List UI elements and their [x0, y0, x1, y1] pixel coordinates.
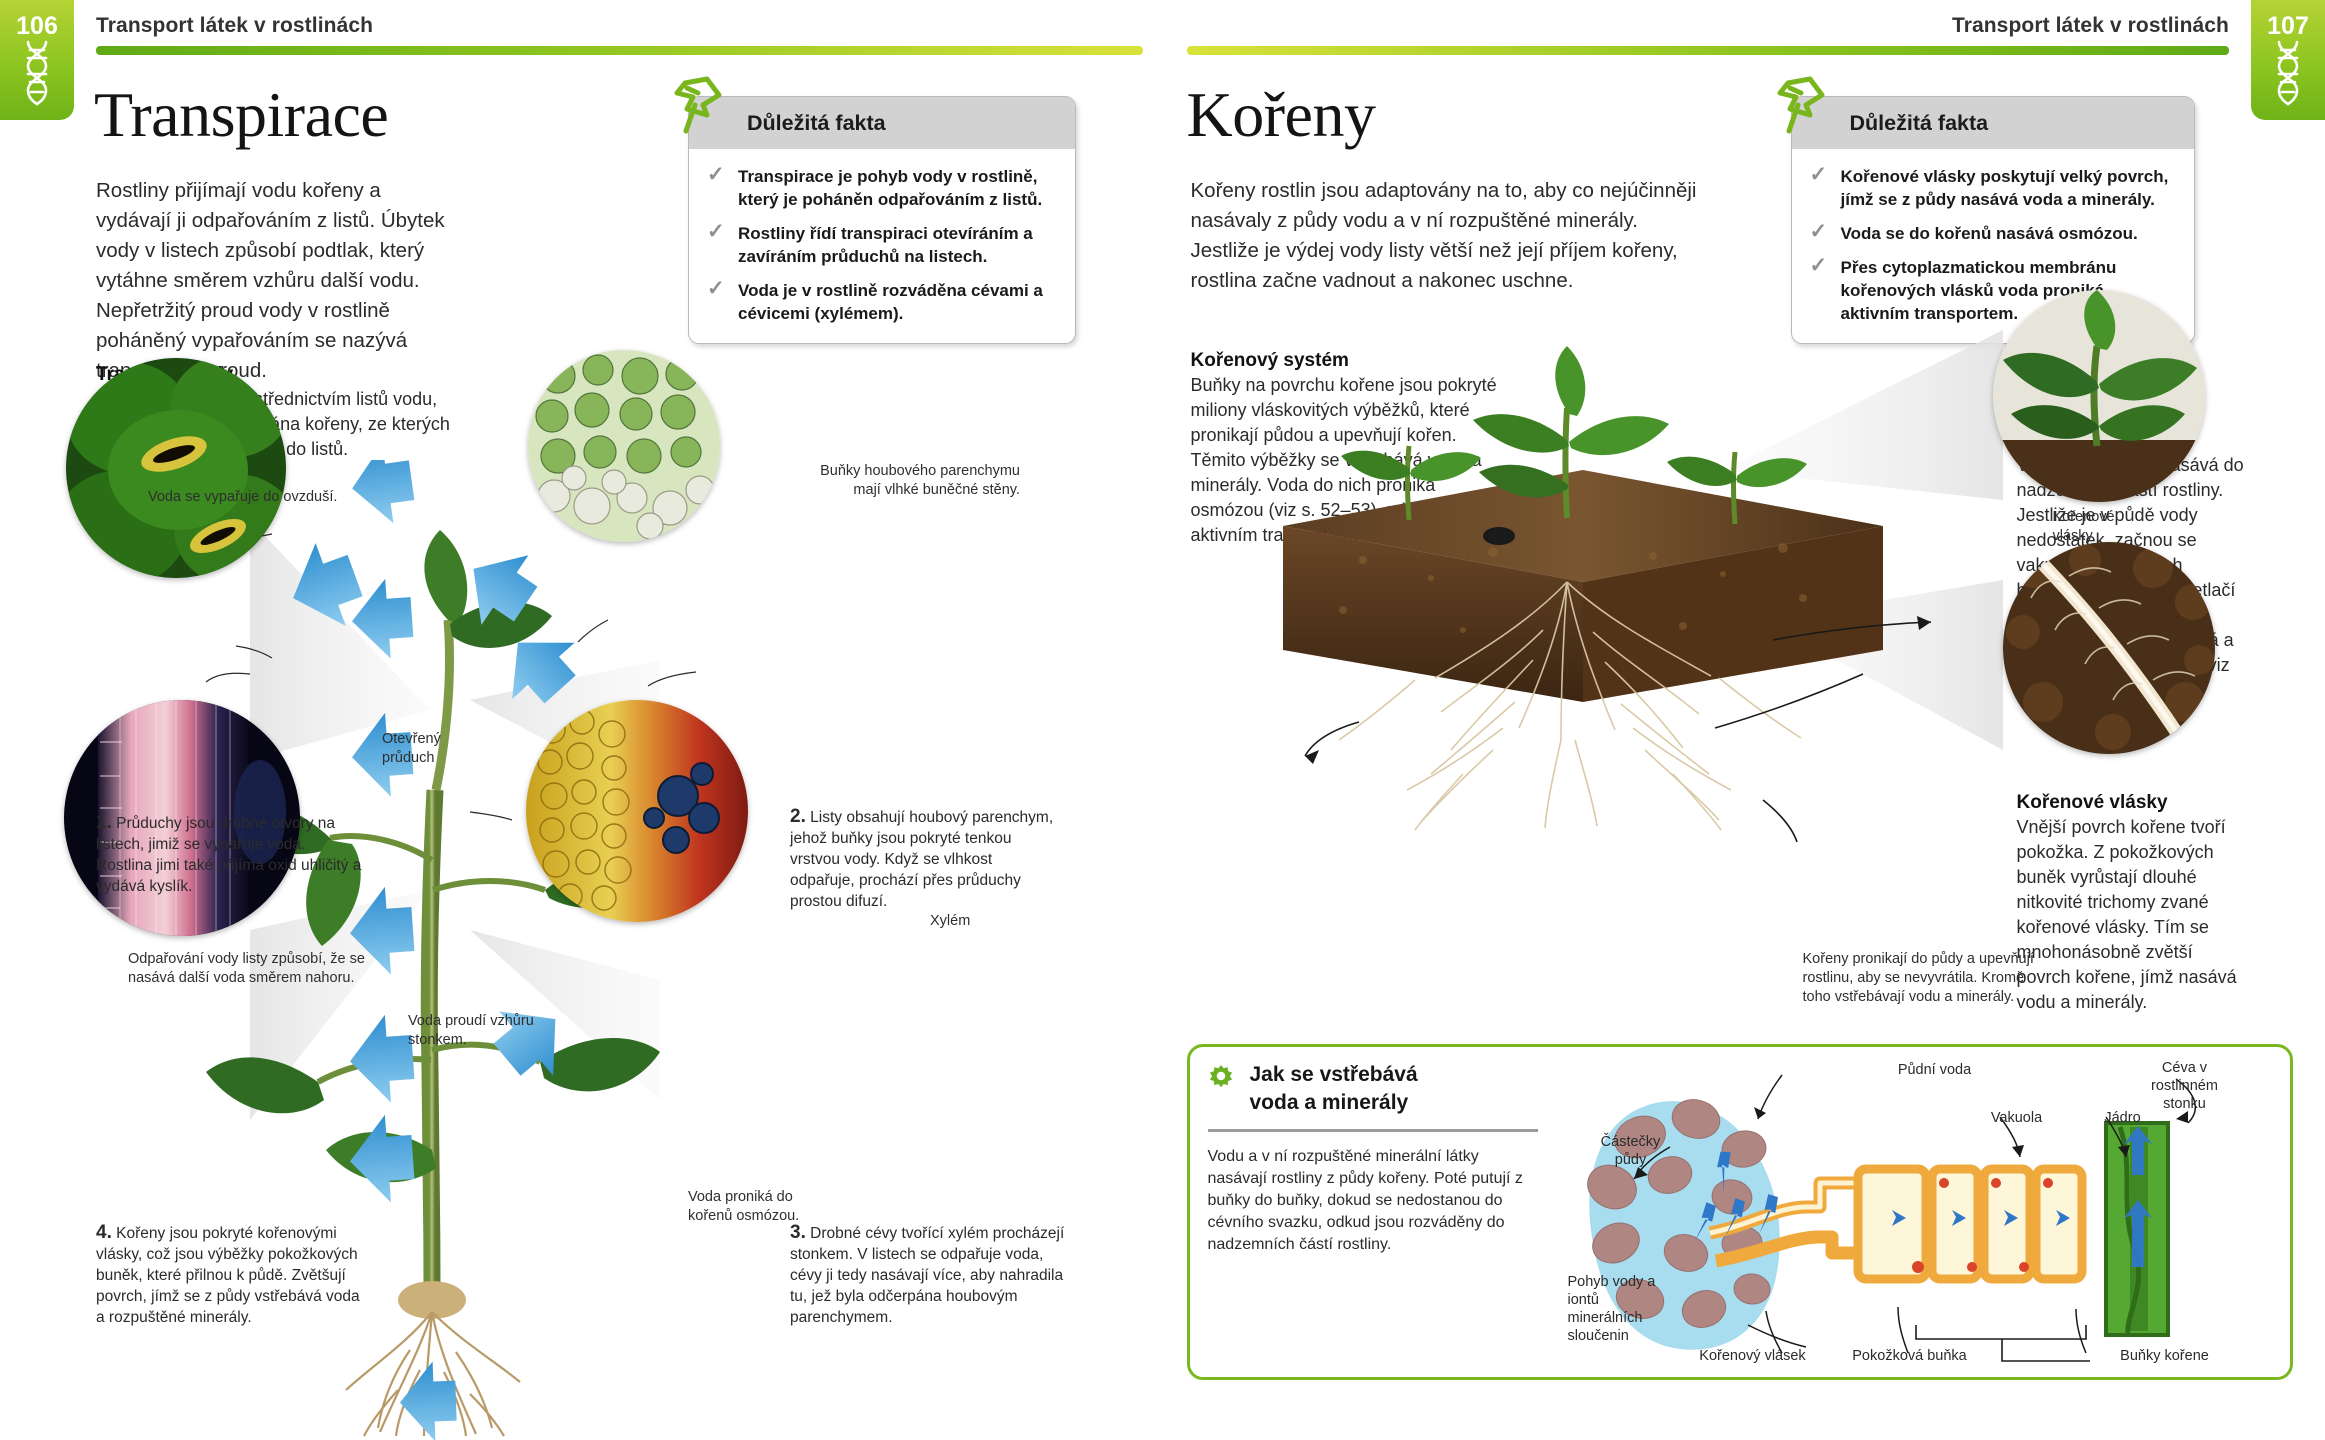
- check-icon: ✓: [1810, 165, 1830, 211]
- list-item: ✓Voda se do kořenů nasává osmózou.: [1810, 222, 2174, 245]
- panel-title: Jak se vstřebává voda a minerály: [1208, 1061, 1538, 1117]
- check-icon: ✓: [1810, 256, 1830, 325]
- dna-icon: [2271, 38, 2305, 108]
- label-epidermal-cell: Pokožková buňka: [1848, 1347, 1972, 1365]
- list-item: ✓Rostliny řídí transpiraci otevíráním a …: [707, 222, 1055, 268]
- page-number-right: 107: [2251, 12, 2325, 41]
- label-water-ion-movement: Pohyb vody a iontů minerálních sloučenin: [1568, 1273, 1678, 1345]
- caption-text: Drobné cévy tvořící xylém procházejí sto…: [790, 1225, 1064, 1326]
- page-right: 107 Transport látek v rostlinách Kořeny …: [1163, 0, 2325, 1440]
- check-icon: ✓: [707, 279, 727, 325]
- page-number-left: 106: [0, 12, 74, 41]
- page-left: 106 Transport látek v rostlinách Transpi…: [0, 0, 1163, 1440]
- numbered-caption-3: 3. Drobné cévy tvořící xylém procházejí …: [790, 1222, 1070, 1328]
- panel-body: Vodu a v ní rozpuštěné minerální látky n…: [1208, 1146, 1538, 1256]
- facts-box-left: Důležitá fakta ✓Transpirace je pohyb vod…: [688, 96, 1076, 344]
- label-soil-water: Půdní voda: [1880, 1061, 1990, 1079]
- caption-text: Kořeny jsou pokryté kořenovými vlásky, c…: [96, 1225, 360, 1326]
- label-spongy: Buňky houbového parenchymu mají vlhké bu…: [790, 462, 1020, 500]
- running-head-right: Transport látek v rostlinách: [1952, 14, 2229, 48]
- micrograph-spongy-parenchyma: [528, 350, 720, 542]
- panel-divider: [1208, 1129, 1538, 1132]
- label-evap-up: Odpařování vody listy způsobí, že se nas…: [128, 950, 390, 988]
- header-rule-right: [1187, 46, 2230, 55]
- running-head-left: Transport látek v rostlinách: [96, 14, 373, 48]
- facts-item-text: Kořenové vlásky poskytují velký povrch, …: [1841, 165, 2174, 211]
- intro-paragraph-left: Rostliny přijímají vodu kořeny a vydávaj…: [96, 176, 446, 386]
- caption-number: 3.: [790, 1222, 806, 1243]
- pin-icon: [1770, 75, 1828, 141]
- list-item: ✓Kořenové vlásky poskytují velký povrch,…: [1810, 165, 2174, 211]
- label-soil-particles: Částečky půdy: [1588, 1133, 1674, 1169]
- label-root-cells: Buňky kořene: [2110, 1347, 2220, 1365]
- panel-title-line1: Jak se vstřebává: [1250, 1063, 1418, 1086]
- micrograph-xylem-section: [526, 700, 748, 922]
- list-item: ✓Voda je v rostlině rozváděna cévami a c…: [707, 279, 1055, 325]
- numbered-caption-2: 2. Listy obsahují houbový parenchym, jeh…: [790, 806, 1058, 912]
- label-root-hairs-callout: Kořenové vlásky: [2053, 508, 2143, 546]
- caption-text: Listy obsahují houbový parenchym, jehož …: [790, 809, 1053, 910]
- check-icon: ✓: [1810, 222, 1830, 245]
- micrograph-wilting-plant: [1993, 290, 2205, 502]
- numbered-caption-1: 1. Průduchy jsou drobné otvory na listec…: [96, 812, 364, 897]
- page-title-right: Kořeny: [1187, 78, 1376, 152]
- label-xylem: Xylém: [930, 912, 1020, 931]
- facts-item-text: Voda je v rostlině rozváděna cévami a cé…: [738, 279, 1055, 325]
- caption-text: Průduchy jsou drobné otvory na listech, …: [96, 815, 361, 895]
- facts-item-text: Transpirace je pohyb vody v rostlině, kt…: [738, 165, 1055, 211]
- list-item: ✓Transpirace je pohyb vody v rostlině, k…: [707, 165, 1055, 211]
- header-rule-left: [96, 46, 1143, 55]
- caption-number: 4.: [96, 1222, 112, 1243]
- label-vacuole: Vakuola: [1972, 1109, 2062, 1127]
- how-it-works-panel: Jak se vstřebává voda a minerály Vodu a …: [1187, 1044, 2293, 1380]
- label-vapor: Voda se vypařuje do ovzduší.: [148, 488, 348, 507]
- label-osmosis-roots: Voda proniká do kořenů osmózou.: [688, 1188, 828, 1226]
- pin-icon: [667, 75, 725, 141]
- numbered-caption-4: 4. Kořeny jsou pokryté kořenovými vlásky…: [96, 1222, 368, 1328]
- micrograph-root-hairs: [2003, 542, 2215, 754]
- label-roots-penetrate: Kořeny pronikají do půdy a upevňují rost…: [1803, 950, 2053, 1007]
- label-root-hair: Kořenový vlásek: [1698, 1347, 1808, 1365]
- dna-icon: [20, 38, 54, 108]
- facts-box-left-title: Důležitá fakta: [689, 97, 1075, 149]
- caption-number: 1.: [96, 812, 112, 833]
- micrograph-stomata: [66, 358, 286, 578]
- check-icon: ✓: [707, 222, 727, 268]
- label-vessel-in-stem: Céva v rostlinném stonku: [2130, 1059, 2240, 1113]
- page-title-left: Transpirace: [94, 78, 388, 152]
- label-open-stoma: Otevřený průduch: [382, 730, 492, 768]
- caption-number: 2.: [790, 806, 806, 827]
- facts-item-text: Voda se do kořenů nasává osmózou.: [1841, 222, 2138, 245]
- cone-stoma: [250, 520, 430, 760]
- facts-box-left-list: ✓Transpirace je pohyb vody v rostlině, k…: [689, 149, 1075, 343]
- panel-title-line2: voda a minerály: [1250, 1091, 1409, 1114]
- facts-item-text: Rostliny řídí transpiraci otevíráním a z…: [738, 222, 1055, 268]
- intro-paragraph-right: Kořeny rostlin jsou adaptovány na to, ab…: [1191, 176, 1711, 296]
- textbook-spread: 106 Transport látek v rostlinách Transpi…: [0, 0, 2325, 1440]
- label-nucleus: Jádro: [2088, 1109, 2158, 1127]
- facts-box-right-title: Důležitá fakta: [1792, 97, 2194, 149]
- check-icon: ✓: [707, 165, 727, 211]
- label-flow-stem: Voda proudí vzhůru stonkem.: [408, 1012, 558, 1050]
